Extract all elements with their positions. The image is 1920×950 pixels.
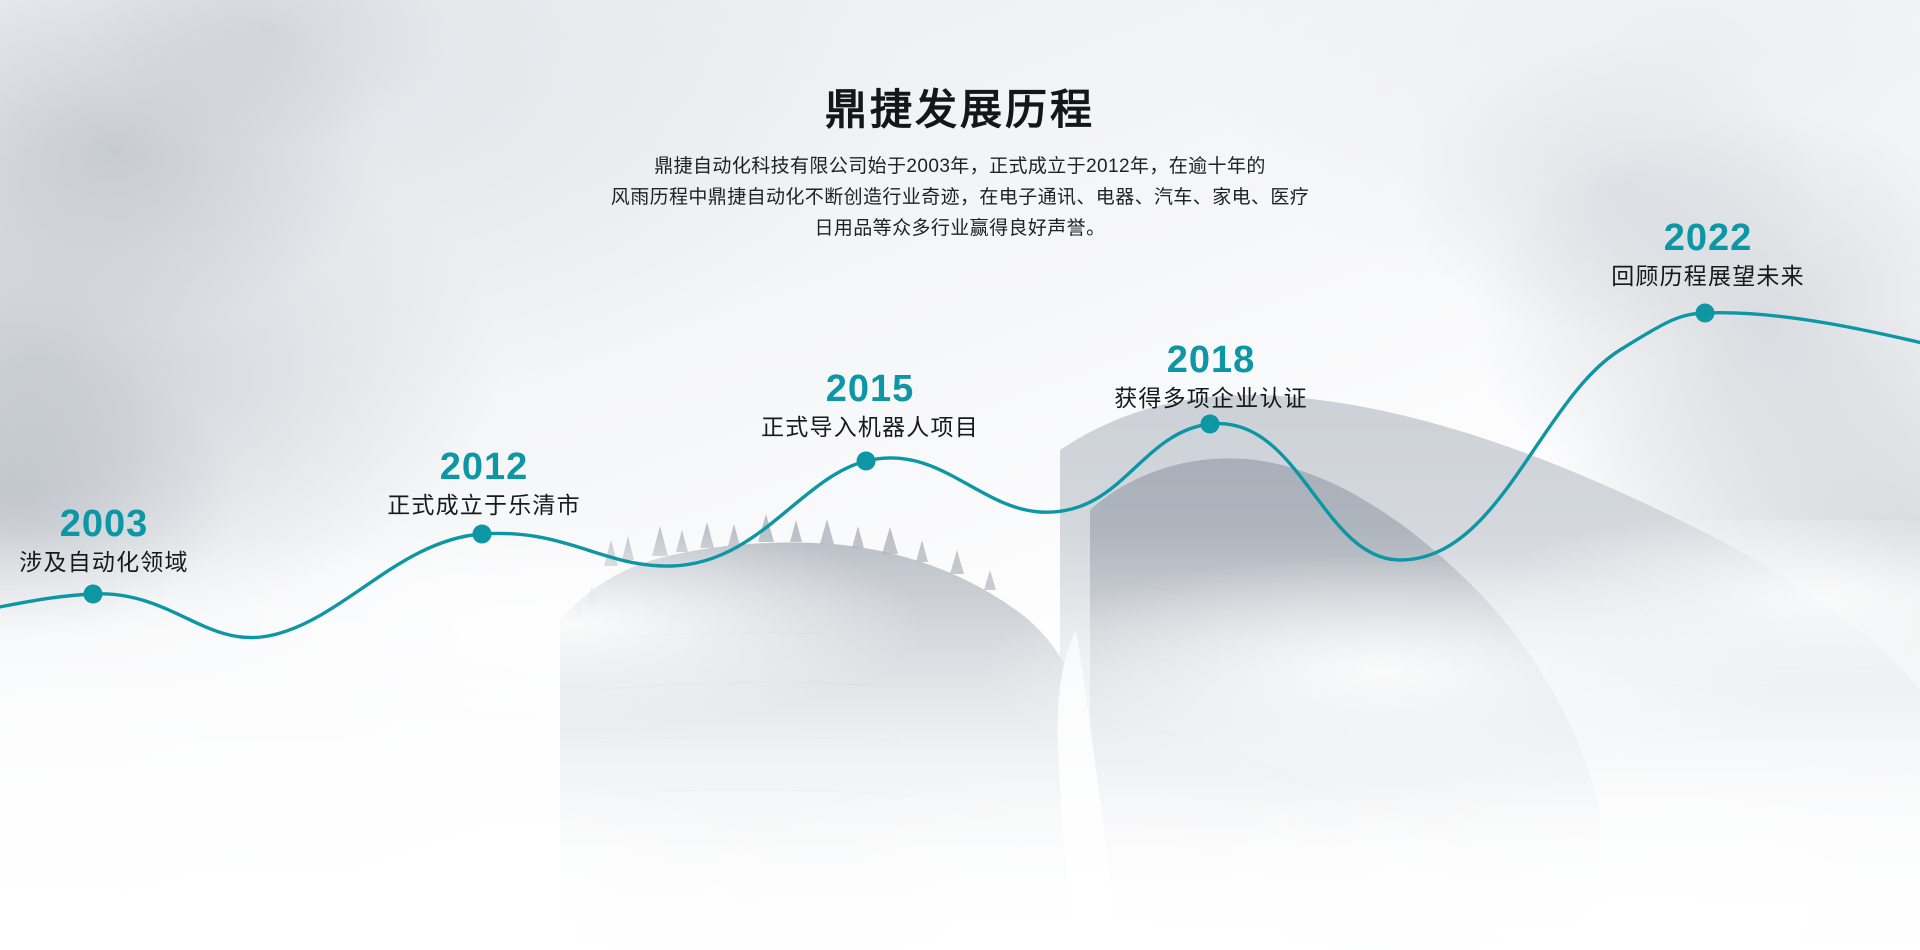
milestone-2003[interactable]: 2003 涉及自动化领域	[19, 505, 188, 576]
description-line-3: 日用品等众多行业赢得良好声誉。	[0, 214, 1920, 245]
description-line-2: 风雨历程中鼎捷自动化不断创造行业奇迹，在电子通讯、电器、汽车、家电、医疗	[0, 183, 1920, 214]
timeline-dot-2003[interactable]	[84, 585, 103, 604]
milestone-year-2012: 2012	[387, 448, 581, 488]
milestone-year-2018: 2018	[1114, 341, 1308, 381]
description-line-1: 鼎捷自动化科技有限公司始于2003年，正式成立于2012年，在逾十年的	[0, 152, 1920, 183]
milestone-label-2022: 回顾历程展望未来	[1611, 263, 1805, 291]
milestone-label-2015: 正式导入机器人项目	[761, 414, 979, 442]
milestone-2018[interactable]: 2018 获得多项企业认证	[1114, 341, 1308, 412]
milestone-year-2003: 2003	[19, 505, 188, 545]
milestone-2012[interactable]: 2012 正式成立于乐清市	[387, 448, 581, 519]
page-description: 鼎捷自动化科技有限公司始于2003年，正式成立于2012年，在逾十年的 风雨历程…	[0, 152, 1920, 244]
timeline-poster: 鼎捷发展历程 鼎捷自动化科技有限公司始于2003年，正式成立于2012年，在逾十…	[0, 0, 1920, 950]
header-block: 鼎捷发展历程 鼎捷自动化科技有限公司始于2003年，正式成立于2012年，在逾十…	[0, 86, 1920, 245]
milestone-label-2003: 涉及自动化领域	[19, 549, 188, 577]
milestone-2015[interactable]: 2015 正式导入机器人项目	[761, 370, 979, 441]
milestone-label-2018: 获得多项企业认证	[1114, 385, 1308, 413]
timeline-dot-2018[interactable]	[1201, 415, 1220, 434]
milestone-label-2012: 正式成立于乐清市	[387, 492, 581, 520]
timeline-dot-2012[interactable]	[473, 525, 492, 544]
milestone-year-2015: 2015	[761, 370, 979, 410]
timeline-dot-2015[interactable]	[857, 452, 876, 471]
page-title: 鼎捷发展历程	[0, 86, 1920, 134]
timeline-dot-2022[interactable]	[1696, 304, 1715, 323]
